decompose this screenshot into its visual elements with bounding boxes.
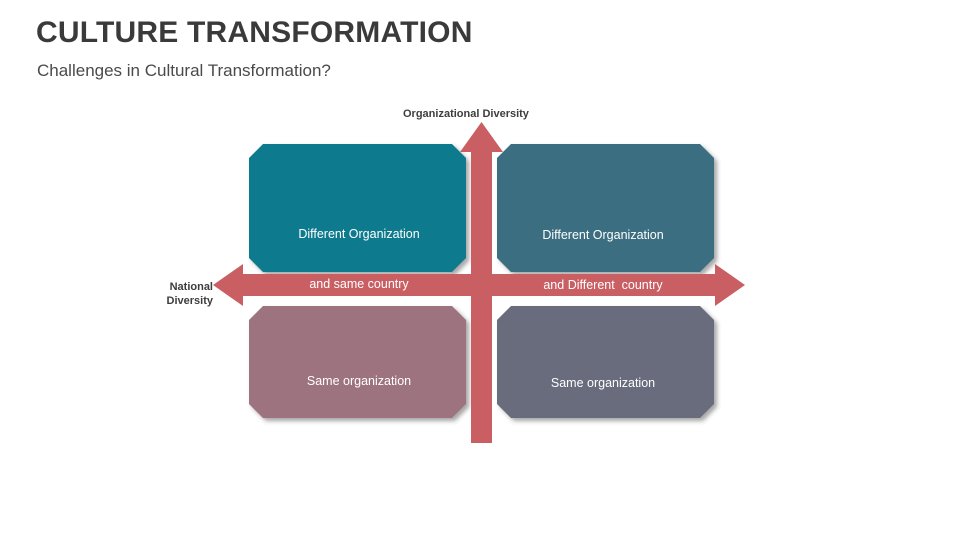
quadrant-matrix-diagram: Organizational Diversity National Divers… (0, 0, 960, 540)
matrix-graphics (0, 0, 960, 540)
quadrant-label-bottom-right: Same organization and Different Country (500, 342, 706, 474)
quadrant-label-top-right: Different Organization and Different cou… (500, 194, 706, 326)
quadrant-label-bottom-left-line2: and Same Country (256, 423, 462, 440)
quadrant-label-top-left-line1: Different Organization (256, 226, 462, 243)
axis-label-national-diversity: National Diversity (118, 280, 213, 308)
quadrant-label-bottom-left-line1: Same organization (256, 373, 462, 390)
quadrant-label-bottom-right-line1: Same organization (500, 375, 706, 392)
quadrant-label-top-left-line2: and same country (256, 276, 462, 293)
axis-label-organizational-diversity: Organizational Diversity (403, 107, 529, 121)
quadrant-label-top-left: Different Organization and same country (256, 193, 462, 325)
axis-label-national-diversity-line2: Diversity (118, 294, 213, 308)
axis-label-national-diversity-line1: National (118, 280, 213, 294)
quadrant-label-bottom-left: Same organization and Same Country (256, 340, 462, 472)
quadrant-label-top-right-line2: and Different country (500, 277, 706, 294)
quadrant-label-bottom-right-line2: and Different Country (500, 425, 706, 442)
quadrant-label-top-right-line1: Different Organization (500, 227, 706, 244)
